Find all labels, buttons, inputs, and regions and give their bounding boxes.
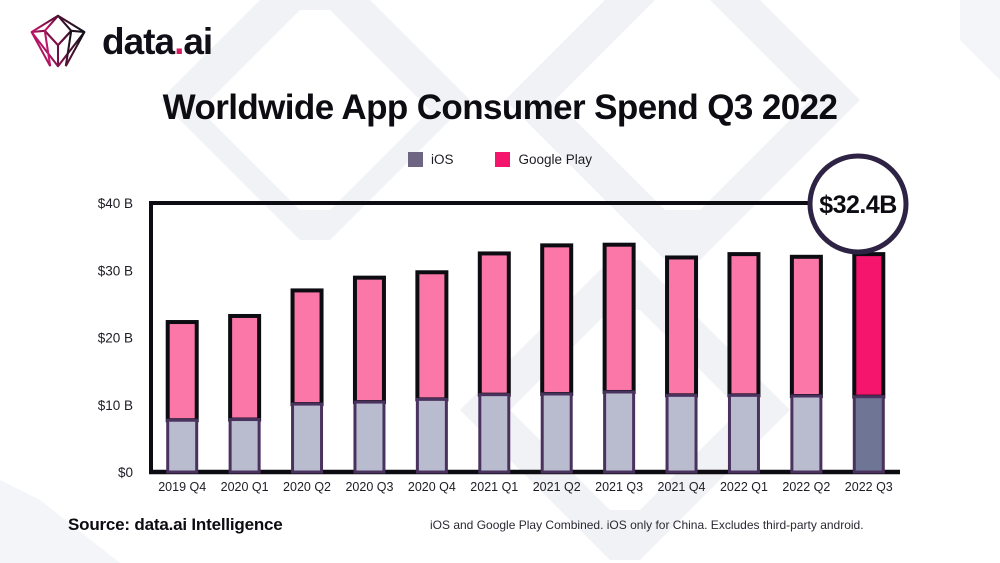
bar-segment-ios[interactable] [792, 396, 821, 472]
logo-text-data: data [102, 21, 174, 62]
axis-frame [151, 203, 900, 472]
chart-legend: iOS Google Play [0, 152, 1000, 167]
bar-segment-google-play[interactable] [480, 253, 509, 394]
legend-label-ios: iOS [431, 152, 454, 167]
bar-segment-ios[interactable] [230, 420, 259, 472]
bar-group[interactable]: 2020 Q4 [417, 272, 446, 472]
bar-segment-ios[interactable] [168, 420, 197, 472]
bar-segment-google-play[interactable] [355, 278, 384, 402]
callout-value: $32.4B [819, 191, 897, 219]
x-axis-tick-label: 2020 Q2 [283, 480, 331, 494]
x-axis-tick-label: 2021 Q1 [470, 480, 518, 494]
bar-segment-ios[interactable] [542, 394, 571, 472]
bar-group[interactable]: 2022 Q1 [729, 254, 758, 472]
x-axis-tick-label: 2022 Q1 [720, 480, 768, 494]
bar-group[interactable]: 2021 Q3 [605, 245, 634, 472]
legend-swatch-ios [408, 152, 423, 167]
y-axis-tick-label: $10 B [98, 398, 133, 413]
bar-segment-ios[interactable] [854, 397, 883, 472]
bar-segment-google-play[interactable] [168, 322, 197, 420]
x-axis-tick-label: 2020 Q3 [345, 480, 393, 494]
x-axis-tick-label: 2022 Q3 [845, 480, 893, 494]
bar-segment-google-play[interactable] [667, 257, 696, 395]
x-axis-tick-label: 2022 Q2 [782, 480, 830, 494]
source-note: Source: data.ai Intelligence [68, 515, 283, 535]
bar-segment-google-play[interactable] [417, 272, 446, 399]
y-axis-tick-label: $0 [118, 465, 133, 480]
x-axis-tick-label: 2021 Q2 [533, 480, 581, 494]
x-axis-tick-label: 2021 Q3 [595, 480, 643, 494]
bar-segment-ios[interactable] [293, 404, 322, 472]
bar-segment-ios[interactable] [355, 402, 384, 472]
legend-item-google-play: Google Play [495, 152, 592, 167]
bar-segment-google-play[interactable] [729, 254, 758, 395]
disclaimer-note: iOS and Google Play Combined. iOS only f… [430, 518, 864, 532]
x-axis-tick-label: 2021 Q4 [658, 480, 706, 494]
bar-group[interactable]: 2021 Q2 [542, 245, 571, 472]
bar-group[interactable]: 2020 Q1 [230, 316, 259, 472]
y-axis-tick-label: $30 B [98, 263, 133, 278]
bar-segment-ios[interactable] [605, 392, 634, 472]
x-axis-tick-label: 2019 Q4 [158, 480, 206, 494]
y-axis-tick-label: $20 B [98, 331, 133, 346]
value-callout: $32.4B [810, 156, 906, 252]
brand-logo: data.ai [28, 12, 212, 70]
x-axis-tick-label: 2020 Q1 [221, 480, 269, 494]
y-axis-tick-label: $40 B [98, 196, 133, 211]
bar-segment-ios[interactable] [480, 395, 509, 472]
bar-segment-ios[interactable] [729, 395, 758, 472]
bar-segment-google-play[interactable] [230, 316, 259, 420]
legend-swatch-google-play [495, 152, 510, 167]
bar-segment-google-play[interactable] [542, 245, 571, 394]
legend-label-google-play: Google Play [518, 152, 592, 167]
logo-text-ai: ai [183, 21, 212, 62]
bar-group[interactable]: 2019 Q4 [168, 322, 197, 472]
x-axis-tick-label: 2020 Q4 [408, 480, 456, 494]
bar-segment-google-play[interactable] [293, 290, 322, 404]
bar-group[interactable]: 2020 Q3 [355, 278, 384, 472]
diamond-icon [28, 12, 88, 70]
page-title: Worldwide App Consumer Spend Q3 2022 [0, 88, 1000, 128]
stacked-bar-chart: $0$10 B$20 B$30 B$40 B2019 Q42019 Q42020… [0, 0, 1000, 563]
bar-segment-ios[interactable] [667, 395, 696, 472]
bar-group[interactable]: 2022 Q2 [792, 257, 821, 472]
bar-group[interactable]: 2021 Q4 [667, 257, 696, 472]
bar-segment-google-play[interactable] [792, 257, 821, 396]
bar-group[interactable]: 2020 Q2 [293, 290, 322, 472]
legend-item-ios: iOS [408, 152, 454, 167]
bar-segment-ios[interactable] [417, 399, 446, 472]
brand-wordmark: data.ai [102, 23, 212, 60]
bar-segment-google-play[interactable] [854, 254, 883, 397]
logo-text-dot: . [174, 21, 183, 62]
bar-segment-google-play[interactable] [605, 245, 634, 392]
bar-group[interactable]: 2021 Q1 [480, 253, 509, 472]
bar-group[interactable]: 2022 Q3 [854, 254, 883, 472]
